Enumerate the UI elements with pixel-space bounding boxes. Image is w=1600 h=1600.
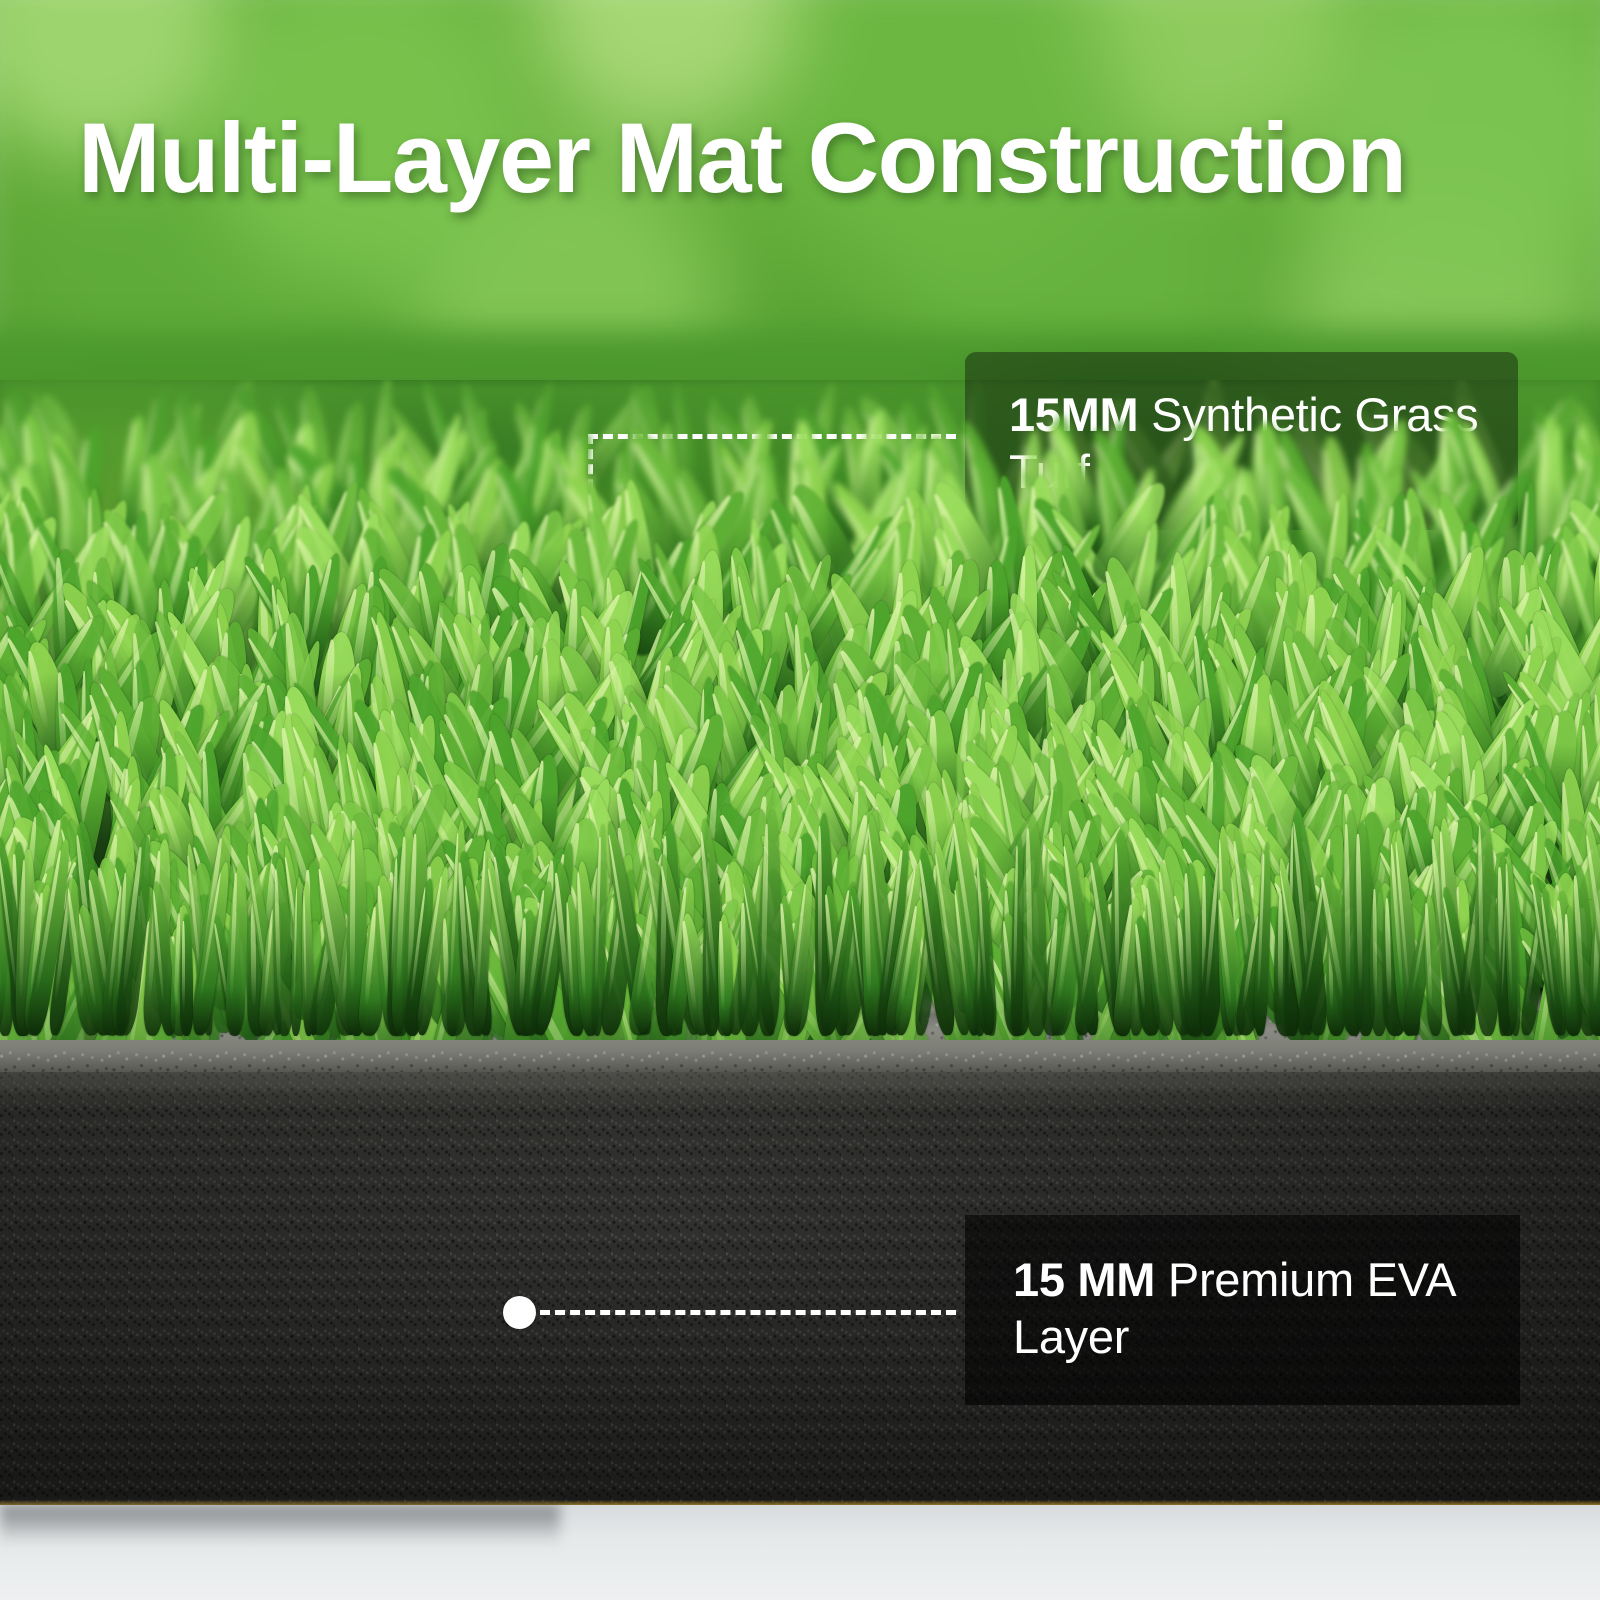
floor-surface <box>0 1505 1600 1600</box>
infographic-canvas: Multi-Layer Mat Construction 15MM Synthe… <box>0 0 1600 1600</box>
page-title: Multi-Layer Mat Construction <box>78 108 1558 207</box>
callout-premium-eva-layer: 15 MM Premium EVA Layer <box>965 1215 1520 1405</box>
synthetic-grass-turf-layer <box>0 380 1600 1040</box>
leader-line-eva-horizontal <box>540 1310 956 1315</box>
turf-blades <box>0 380 1600 1040</box>
callout-eva-measure: 15 MM <box>1013 1253 1155 1306</box>
mat-cast-shadow <box>0 1505 560 1545</box>
leader-dot-eva <box>503 1296 536 1329</box>
